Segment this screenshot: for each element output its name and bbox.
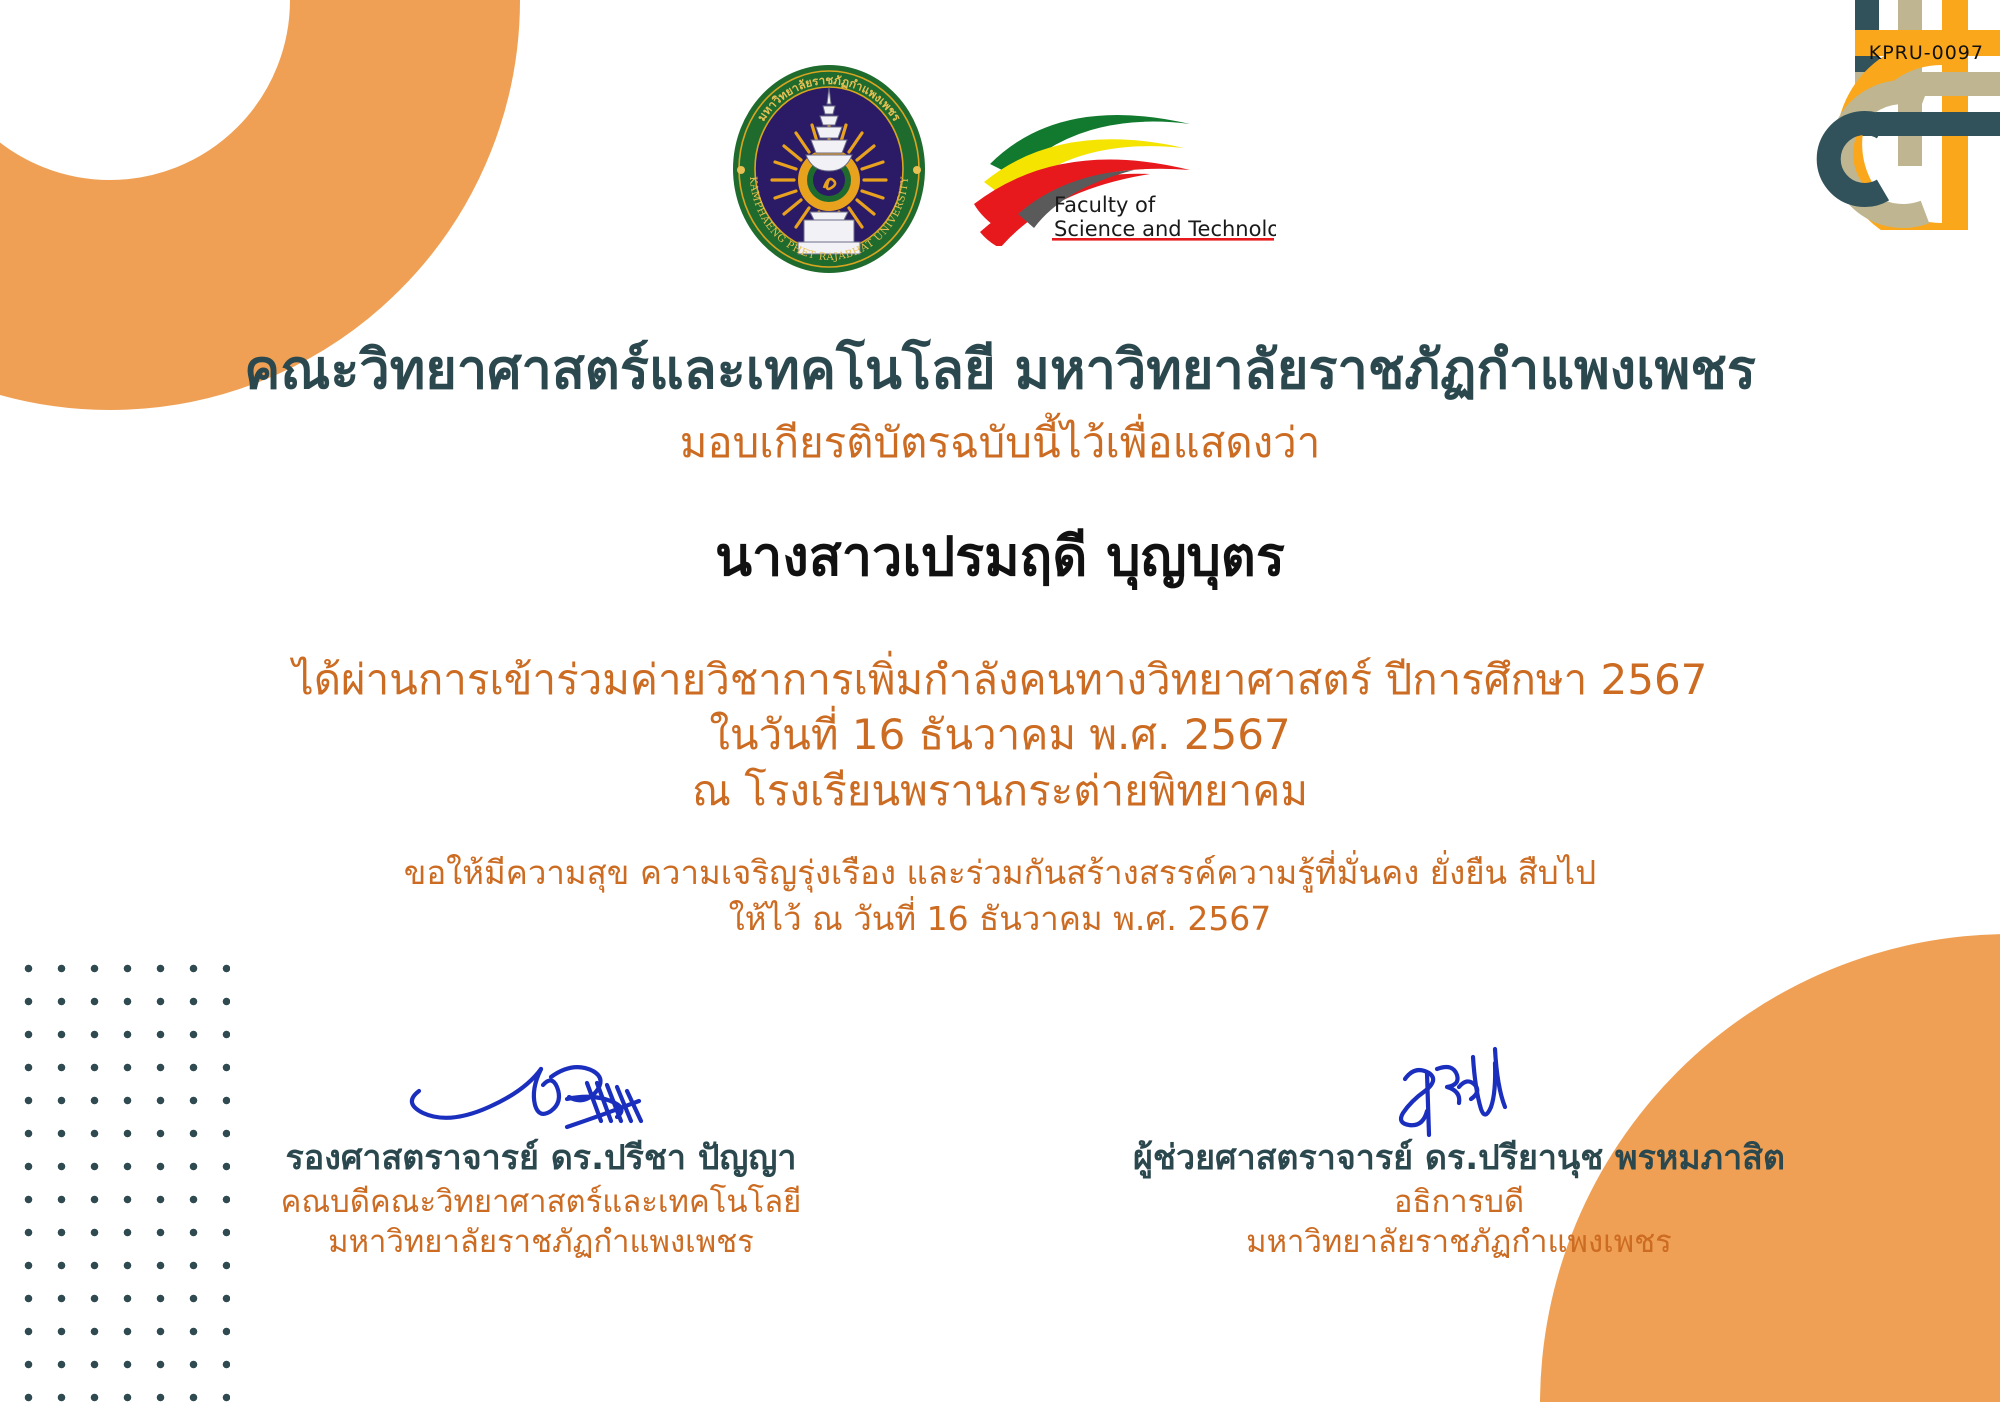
signature-block-president: ผู้ช่วยศาสตราจารย์ ดร.ปรียานุช พรหมภาสิต… (1068, 1045, 1850, 1262)
certificate-page: KPRU-0097 (0, 0, 2000, 1414)
signature-role: คณบดีคณะวิทยาศาสตร์และเทคโนโลยี (150, 1182, 932, 1222)
handwritten-signature-icon (150, 1045, 932, 1143)
faculty-logo-icon: Faculty of Science and Technology (956, 86, 1276, 246)
signature-name: ผู้ช่วยศาสตราจารย์ ดร.ปรียานุช พรหมภาสิต (1068, 1137, 1850, 1180)
signature-block-dean: รองศาสตราจารย์ ดร.ปรีชา ปัญญา คณบดีคณะวิ… (150, 1045, 932, 1262)
signature-role: อธิการบดี (1068, 1182, 1850, 1222)
body-line-3: ณ โรงเรียนพรานกระต่ายพิทยาคม (0, 763, 2000, 818)
certificate-content: คณะวิทยาศาสตร์และเทคโนโลยี มหาวิทยาลัยรา… (0, 340, 2000, 941)
svg-text:Faculty of: Faculty of (1054, 193, 1156, 217)
recipient-name: นางสาวเปรมฤดี บุญบุตร (0, 525, 2000, 590)
certificate-wish: ขอให้มีความสุข ความเจริญรุ่งเรือง และร่ว… (0, 850, 2000, 941)
certificate-code: KPRU-0097 (1869, 42, 1984, 64)
handwritten-signature-icon (1068, 1045, 1850, 1143)
svg-text:Science and Technology: Science and Technology (1054, 217, 1276, 241)
university-seal-icon: มหาวิทยาลัยราชภัฏกำแพงเพชร KAMPHAENG PHE… (724, 62, 934, 277)
wish-line-1: ขอให้มีความสุข ความเจริญรุ่งเรือง และร่ว… (0, 850, 2000, 896)
decorative-bottom-strip (0, 1402, 2000, 1414)
body-line-2: ในวันที่ 16 ธันวาคม พ.ศ. 2567 (0, 707, 2000, 762)
certificate-subtitle: มอบเกียรติบัตรฉบับนี้ไว้เพื่อแสดงว่า (0, 418, 2000, 468)
certificate-body: ได้ผ่านการเข้าร่วมค่ายวิชาการเพิ่มกำลังค… (0, 652, 2000, 818)
signature-row: รองศาสตราจารย์ ดร.ปรีชา ปัญญา คณบดีคณะวิ… (150, 1045, 1850, 1262)
body-line-1: ได้ผ่านการเข้าร่วมค่ายวิชาการเพิ่มกำลังค… (0, 652, 2000, 707)
signature-organization: มหาวิทยาลัยราชภัฏกำแพงเพชร (150, 1222, 932, 1262)
certificate-title: คณะวิทยาศาสตร์และเทคโนโลยี มหาวิทยาลัยรา… (0, 340, 2000, 400)
signature-name: รองศาสตราจารย์ ดร.ปรีชา ปัญญา (150, 1137, 932, 1180)
wish-line-2: ให้ไว้ ณ วันที่ 16 ธันวาคม พ.ศ. 2567 (0, 896, 2000, 942)
decorative-arc-mask (0, 0, 120, 30)
signature-organization: มหาวิทยาลัยราชภัฏกำแพงเพชร (1068, 1222, 1850, 1262)
logo-row: มหาวิทยาลัยราชภัฏกำแพงเพชร KAMPHAENG PHE… (0, 62, 2000, 277)
